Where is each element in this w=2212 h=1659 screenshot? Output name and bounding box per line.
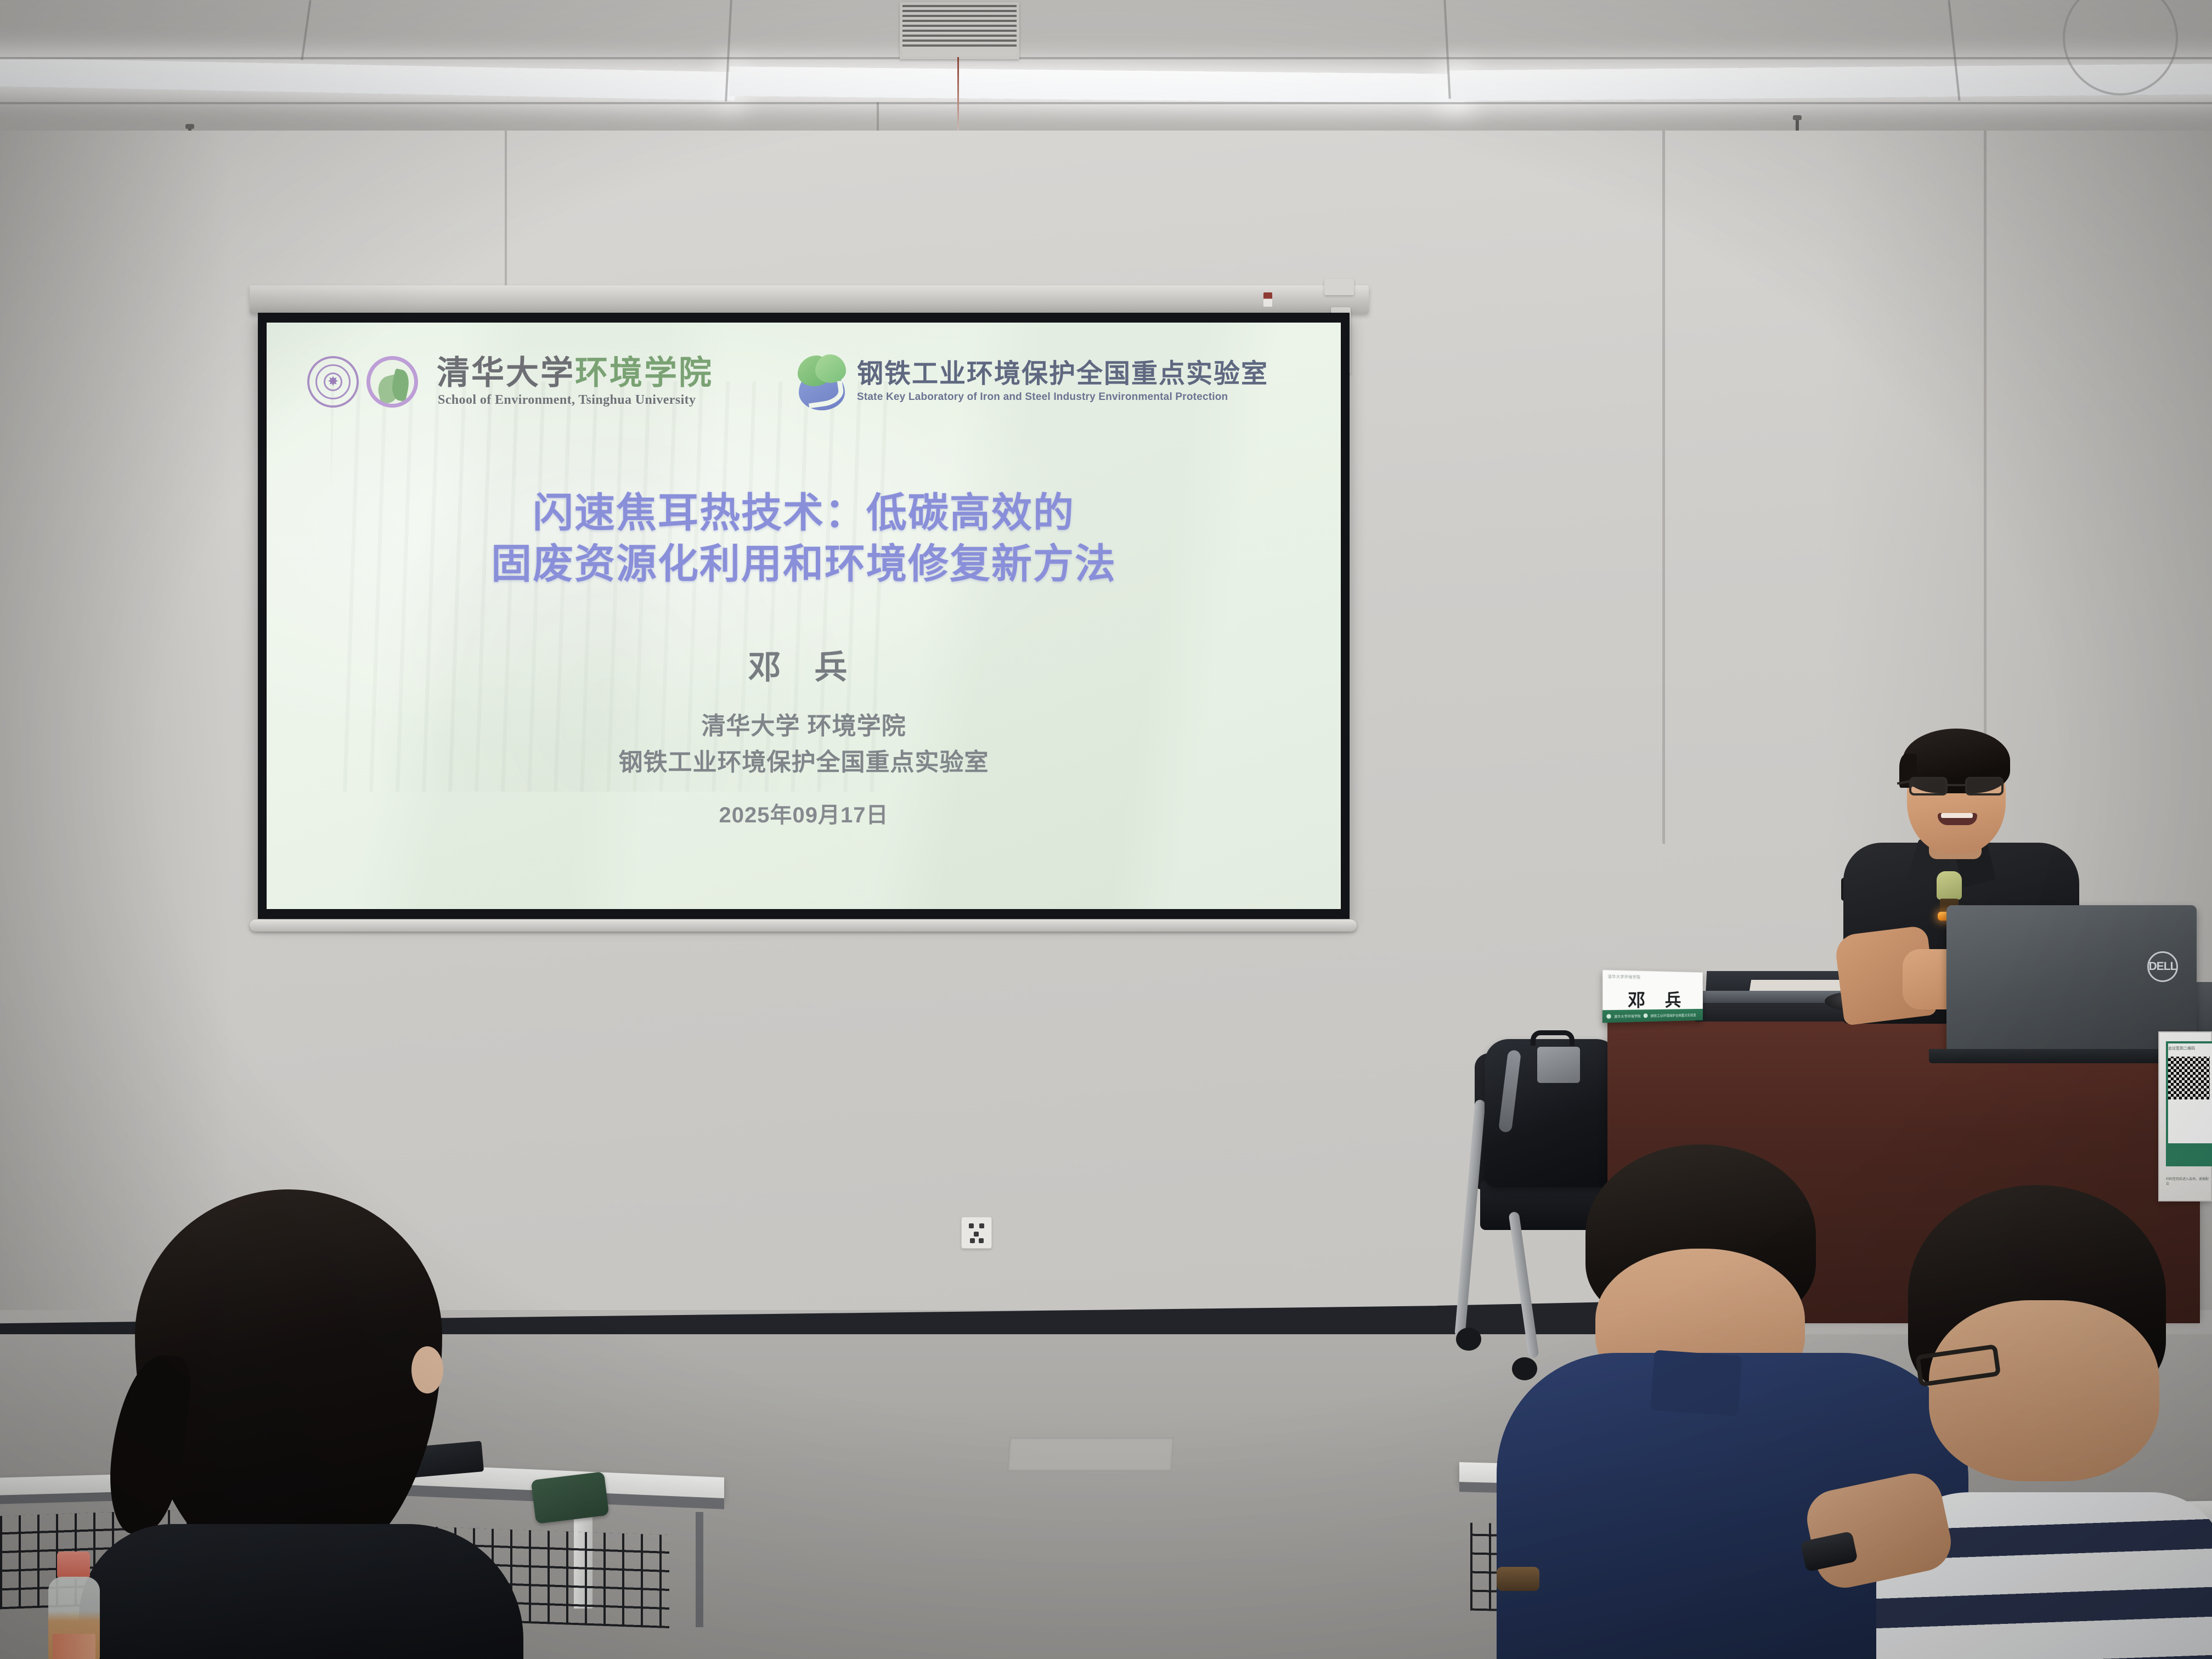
slide-affiliation-1: 清华大学 环境学院	[267, 708, 1341, 744]
wristwatch	[1497, 1567, 1539, 1591]
slide-title-line2: 固废资源化利用和环境修复新方法	[267, 538, 1341, 589]
placard-band-right: 钢铁工业环境保护全国重点实验室	[1650, 1012, 1696, 1018]
audience-member-woman	[65, 1189, 498, 1659]
slide-affiliation-2: 钢铁工业环境保护全国重点实验室	[267, 744, 1341, 781]
ceiling-grid-line	[0, 57, 2212, 59]
name-placard: 清华大学环境学院 邓 兵 清华大学环境学院 钢铁工业环境保护全国重点实验室	[1602, 970, 1703, 1023]
presenter-glasses-icon	[1909, 777, 2004, 795]
wall-seam	[1662, 131, 1665, 844]
floor-access-panel	[1007, 1437, 1174, 1471]
slide-title-line1: 闪速焦耳热技术：低碳高效的	[267, 487, 1341, 538]
placard-band-left: 清华大学环境学院	[1614, 1013, 1641, 1019]
projection-screen: ✸ 清华大学环境学院 School of Environment, Tsingh…	[258, 313, 1350, 919]
ceiling-grid-line	[301, 0, 311, 60]
lab-title-en: State Key Laboratory of Iron and Steel I…	[857, 391, 1268, 403]
wordmark-cn-a: 清华大学	[437, 354, 575, 391]
ceiling-grid-line	[0, 102, 2212, 104]
slide-subtitle-block: 邓 兵 清华大学 环境学院 钢铁工业环境保护全国重点实验室 2025年09月17…	[267, 641, 1341, 829]
tsinghua-seal-icon: ✸	[307, 356, 359, 408]
ceiling-light-strip	[0, 58, 735, 100]
hanging-wire	[957, 57, 959, 137]
qr-code-icon[interactable]	[2168, 1057, 2210, 1099]
state-key-lab-logo: 钢铁工业环境保护全国重点实验室 State Key Laboratory of …	[795, 353, 1268, 410]
placard-header-text: 清华大学环境学院	[1607, 974, 1640, 980]
desk-leg-post	[696, 1512, 703, 1627]
qr-poster-title: 会议签到二维码	[2168, 1046, 2195, 1051]
seal-star-icon: ✸	[328, 375, 338, 388]
slide-speaker-name: 邓 兵	[267, 641, 1341, 689]
screen-housing-tab	[1263, 292, 1272, 307]
presentation-slide: ✸ 清华大学环境学院 School of Environment, Tsingh…	[267, 323, 1341, 909]
ceiling-air-vent	[900, 2, 1019, 59]
slide-header: ✸ 清华大学环境学院 School of Environment, Tsingh…	[267, 353, 1341, 410]
ceiling-light-strip	[730, 66, 1465, 104]
placard-name: 邓 兵	[1620, 986, 1688, 1012]
wordmark-en: School of Environment, Tsinghua Universi…	[438, 393, 713, 408]
projection-screen-weight-bar	[250, 919, 1357, 932]
lab-title-cn: 钢铁工业环境保护全国重点实验室	[857, 361, 1268, 387]
slide-date: 2025年09月17日	[267, 797, 1341, 829]
projection-screen-housing	[250, 285, 1369, 314]
slide-title: 闪速焦耳热技术：低碳高效的 固废资源化利用和环境修复新方法	[267, 487, 1341, 589]
smartphone-on-desk[interactable]	[531, 1471, 610, 1524]
beverage-bottle[interactable]	[44, 1551, 103, 1659]
wall-shading-left	[0, 131, 230, 1310]
dell-logo-icon: DELL	[2147, 951, 2178, 982]
left-logo-wordmark: 清华大学环境学院	[437, 357, 713, 390]
tsinghua-environment-logo: ✸ 清华大学环境学院 School of Environment, Tsingh…	[307, 356, 713, 408]
screen-mount-bracket	[1324, 279, 1354, 295]
qr-code-poster[interactable]: 会议签到二维码 扫码签到后进入会场，谢谢配合	[2158, 1031, 2212, 1201]
lab-leaf-wave-icon	[795, 353, 848, 410]
environment-leaf-icon	[366, 356, 418, 408]
wall-outlet[interactable]	[961, 1217, 992, 1249]
audience-member-striped-shirt	[1876, 1185, 2212, 1659]
ceiling	[0, 0, 2212, 137]
wordmark-cn-b: 环境学院	[575, 354, 713, 391]
lecture-hall-photo: ✸ 清华大学环境学院 School of Environment, Tsingh…	[0, 0, 2212, 1659]
laptop[interactable]: DELL	[1946, 905, 2197, 1052]
wall-seam	[1984, 131, 1987, 734]
